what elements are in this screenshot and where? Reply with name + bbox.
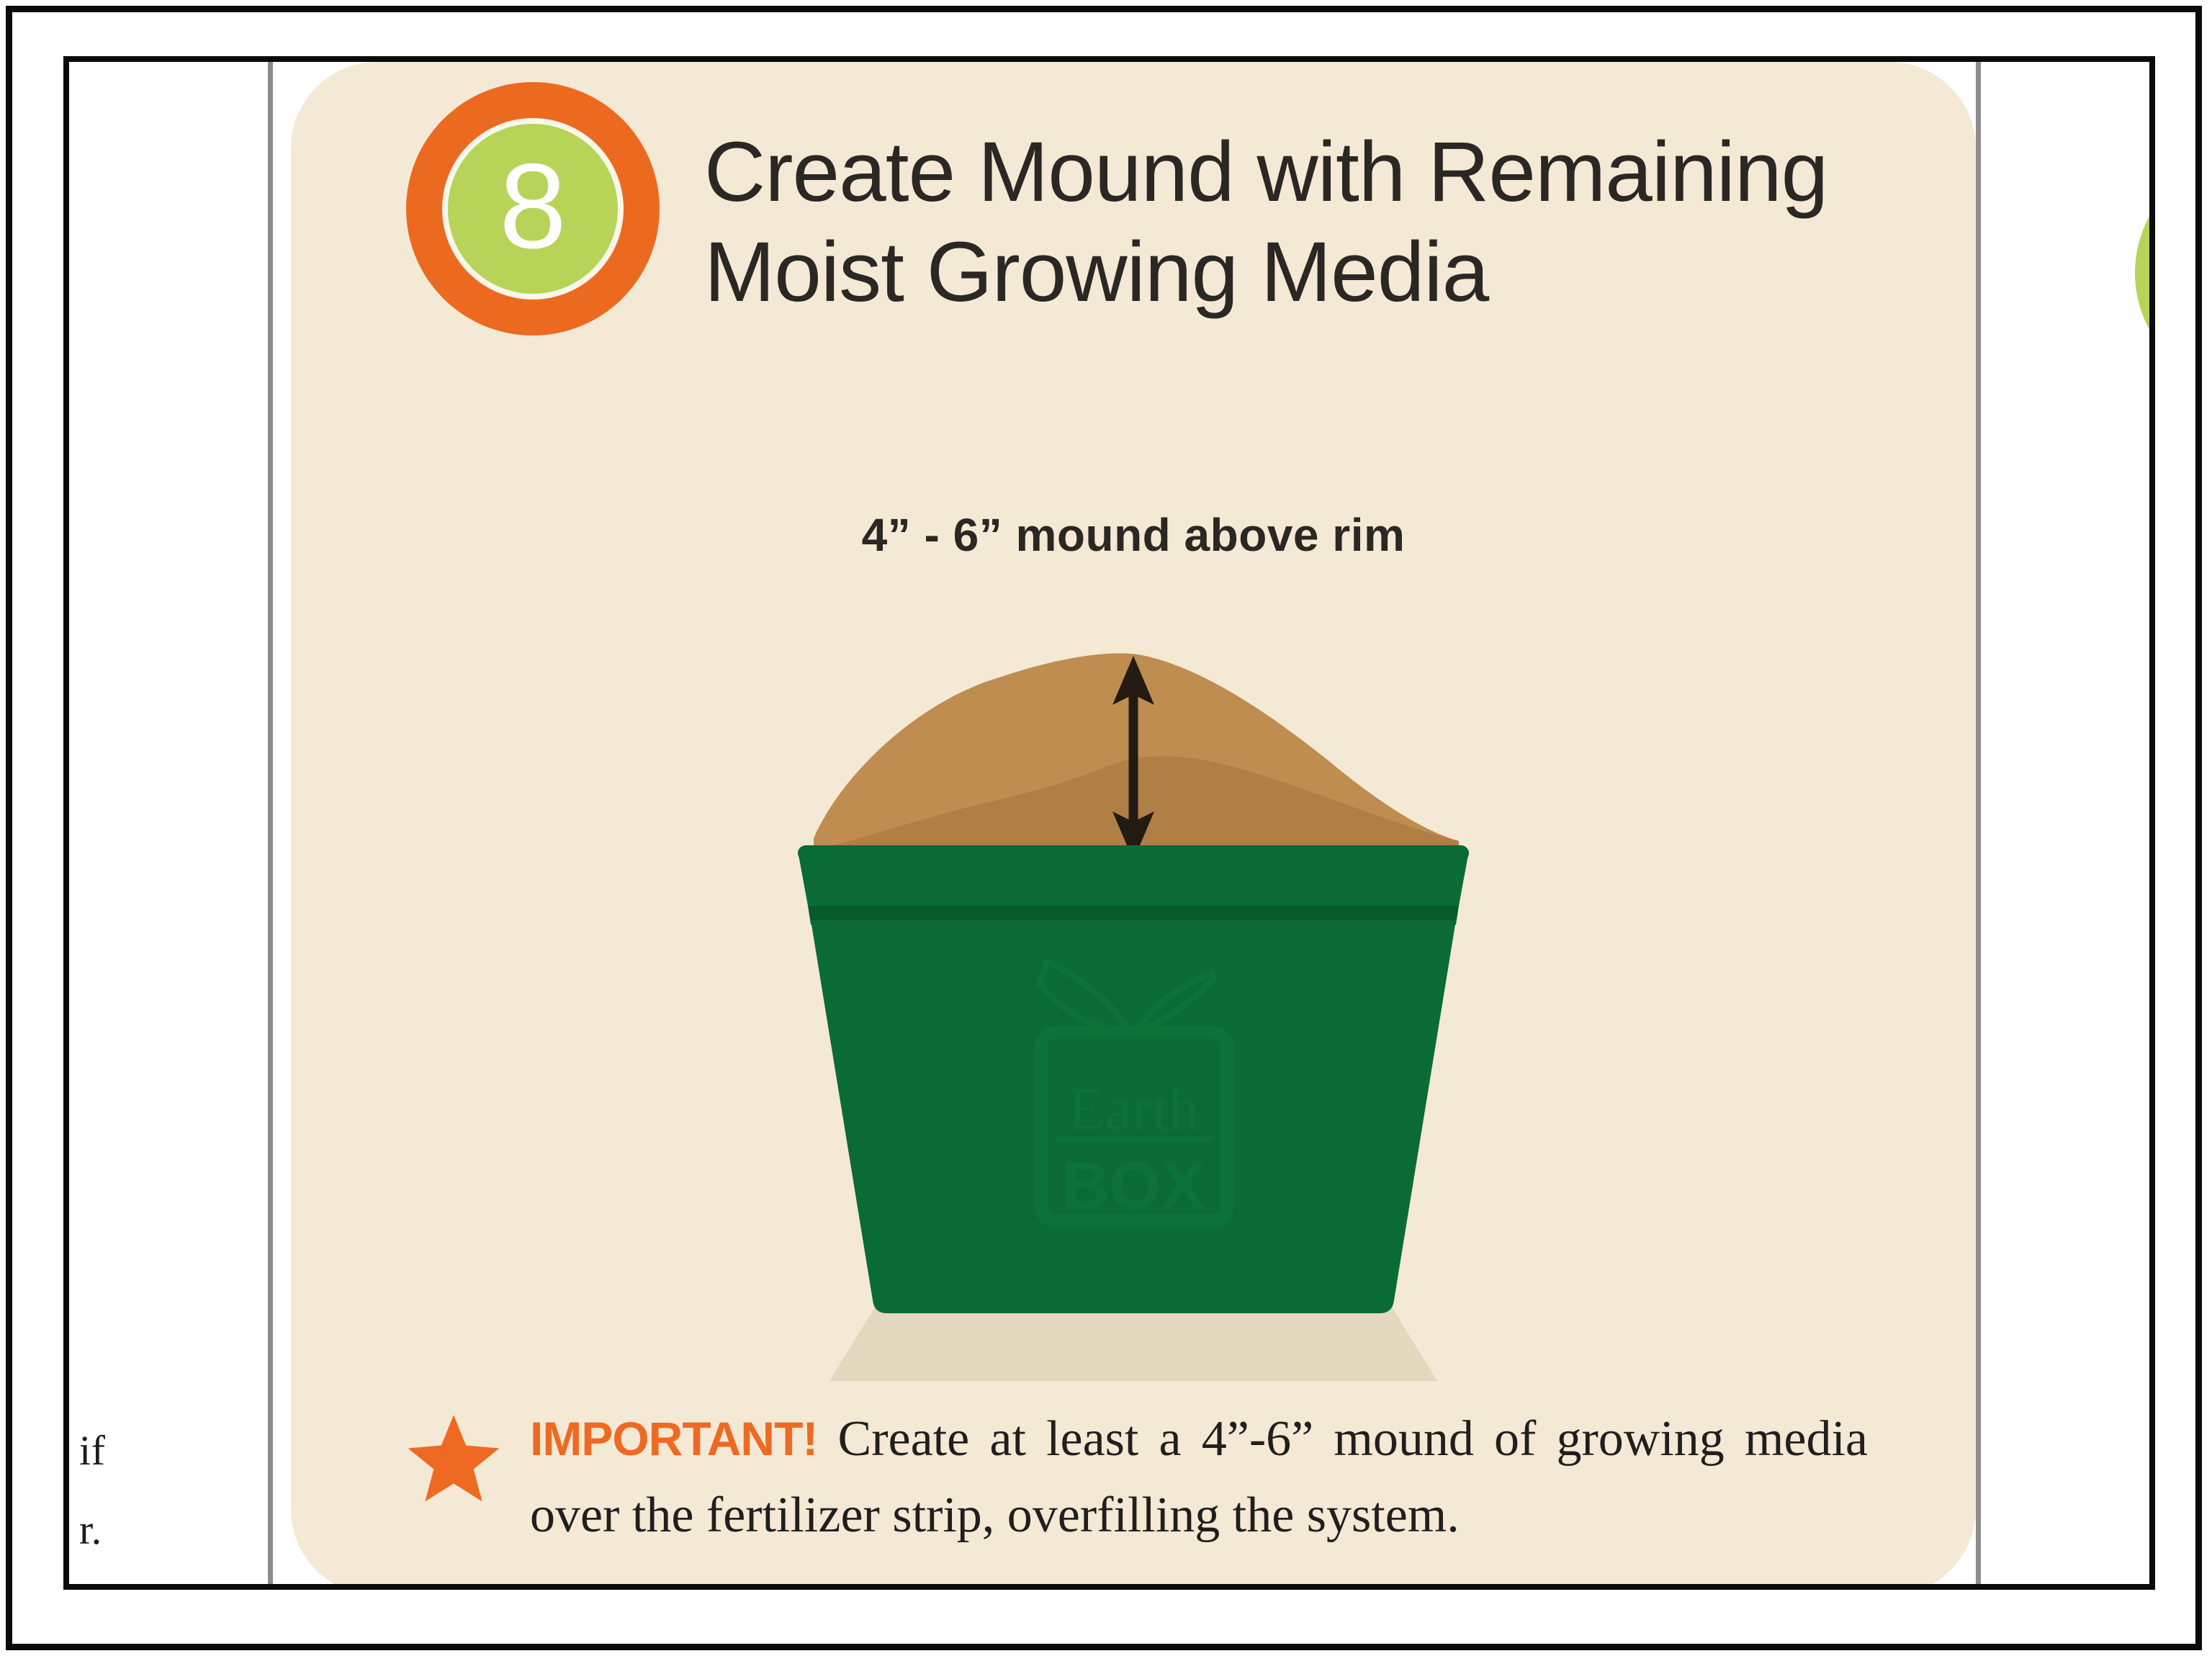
- step-card: 8 Create Mound with Remaining Moist Grow…: [291, 62, 1976, 1590]
- mound-measurement-caption: 4” - 6” mound above rim: [291, 508, 1976, 562]
- earthbox-illustration: Earth BOX: [773, 652, 1493, 1416]
- logo-earth-text: Earth: [1068, 1076, 1199, 1143]
- important-label: IMPORTANT!: [530, 1412, 817, 1465]
- step-title: Create Mound with Remaining Moist Growin…: [704, 122, 1928, 323]
- important-callout: IMPORTANT! Create at least a 4”-6” mound…: [406, 1401, 1868, 1554]
- clipped-text-fragment-2: r.: [79, 1509, 102, 1551]
- right-gutter-rule: [1976, 62, 1981, 1584]
- step-header: 8 Create Mound with Remaining Moist Grow…: [406, 82, 1933, 336]
- step-number-label: 8: [499, 145, 566, 266]
- step-number-badge: 8: [406, 82, 660, 336]
- clipped-text-fragment-1: if: [79, 1430, 105, 1472]
- logo-box-text: BOX: [1061, 1149, 1205, 1223]
- next-step-badge-clipped: [2135, 154, 2155, 392]
- left-gutter-rule: [268, 62, 273, 1584]
- star-icon: [406, 1411, 501, 1506]
- inner-page-border: if r. 8 Create Mound with Remaining Mois…: [63, 56, 2155, 1590]
- page-root: if r. 8 Create Mound with Remaining Mois…: [0, 0, 2212, 1656]
- planter-rim-lip: [798, 845, 1469, 861]
- callout-text: IMPORTANT! Create at least a 4”-6” mound…: [530, 1401, 1868, 1554]
